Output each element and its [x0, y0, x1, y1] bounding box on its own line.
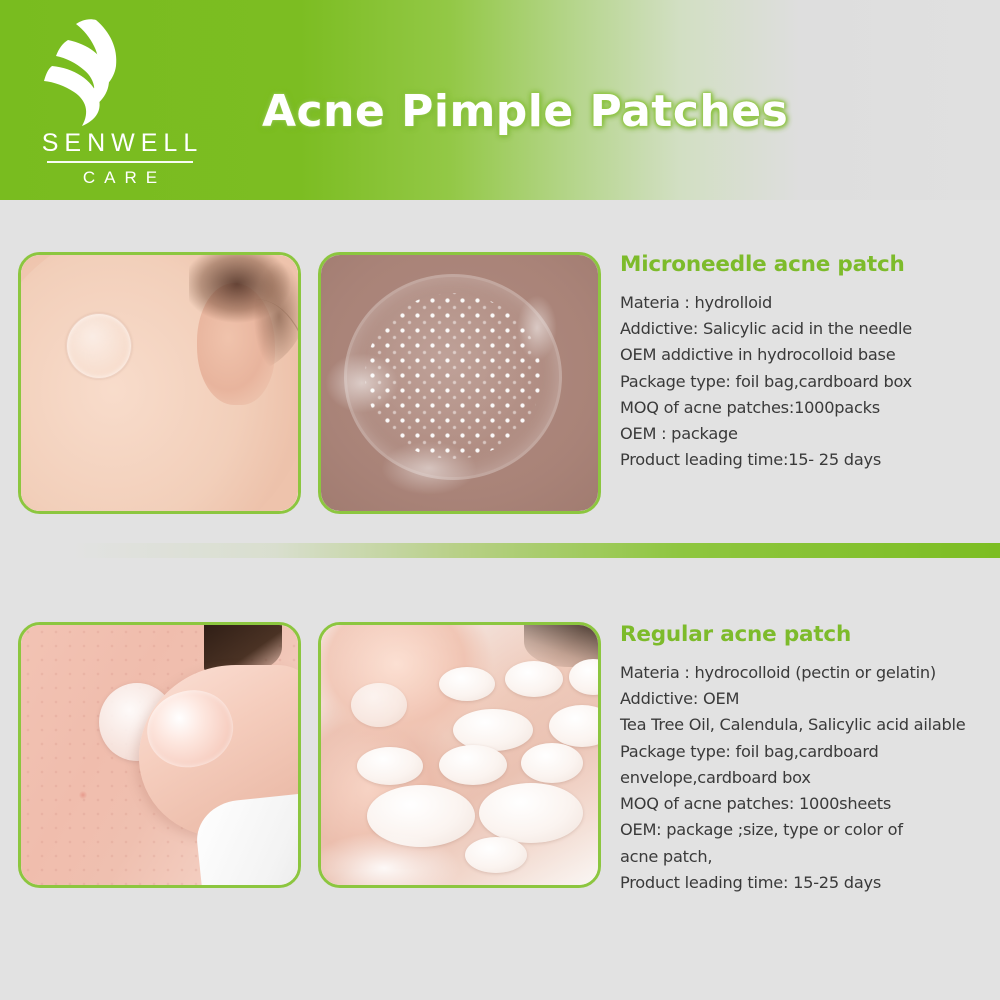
- spec-line: Materia : hydrocolloid (pectin or gelati…: [620, 660, 995, 686]
- photo-thumb-applying-patch: [18, 622, 301, 888]
- leaf-flame-logo-icon: [38, 18, 158, 128]
- spec-line: OEM : package: [620, 421, 995, 447]
- brand-logo-text: SENWELL CARE: [30, 130, 210, 188]
- spec-line: Product leading time: 15-25 days: [620, 870, 995, 896]
- spec-line: OEM addictive in hydrocolloid base: [620, 342, 995, 368]
- text-regular: Regular acne patch Materia : hydrocolloi…: [620, 622, 995, 896]
- section-title-regular: Regular acne patch: [620, 622, 995, 647]
- spec-line: envelope,cardboard box: [620, 765, 995, 791]
- spec-line: Tea Tree Oil, Calendula, Salicylic acid …: [620, 712, 995, 738]
- spec-line: Materia : hydrolloid: [620, 290, 995, 316]
- brand-tagline: CARE: [30, 168, 210, 188]
- spec-line: OEM: package ;size, type or color of: [620, 817, 995, 843]
- section-title-microneedle: Microneedle acne patch: [620, 252, 995, 277]
- spec-line: MOQ of acne patches: 1000sheets: [620, 791, 995, 817]
- spec-line: acne patch,: [620, 844, 995, 870]
- spec-line: Addictive: OEM: [620, 686, 995, 712]
- photo-microneedle-closeup: [318, 252, 601, 514]
- brand-divider: [47, 161, 193, 163]
- photo-cheek-with-patch: [18, 252, 301, 514]
- spec-line: Package type: foil bag,cardboard: [620, 739, 995, 765]
- page-header: SENWELL CARE Acne Pimple Patches: [0, 0, 1000, 200]
- photo-patch-sheet: [318, 622, 601, 888]
- spec-line: MOQ of acne patches:1000packs: [620, 395, 995, 421]
- brand-logo[interactable]: SENWELL CARE: [30, 18, 220, 196]
- brand-name: SENWELL: [30, 130, 210, 156]
- acne-patch-on-cheek: [66, 313, 132, 379]
- spec-line: Product leading time:15- 25 days: [620, 447, 995, 473]
- page-title: Acne Pimple Patches: [262, 86, 788, 137]
- section-divider: [70, 543, 1000, 558]
- text-microneedle: Microneedle acne patch Materia : hydroll…: [620, 252, 995, 474]
- spec-line: Addictive: Salicylic acid in the needle: [620, 316, 995, 342]
- spec-line: Package type: foil bag,cardboard box: [620, 369, 995, 395]
